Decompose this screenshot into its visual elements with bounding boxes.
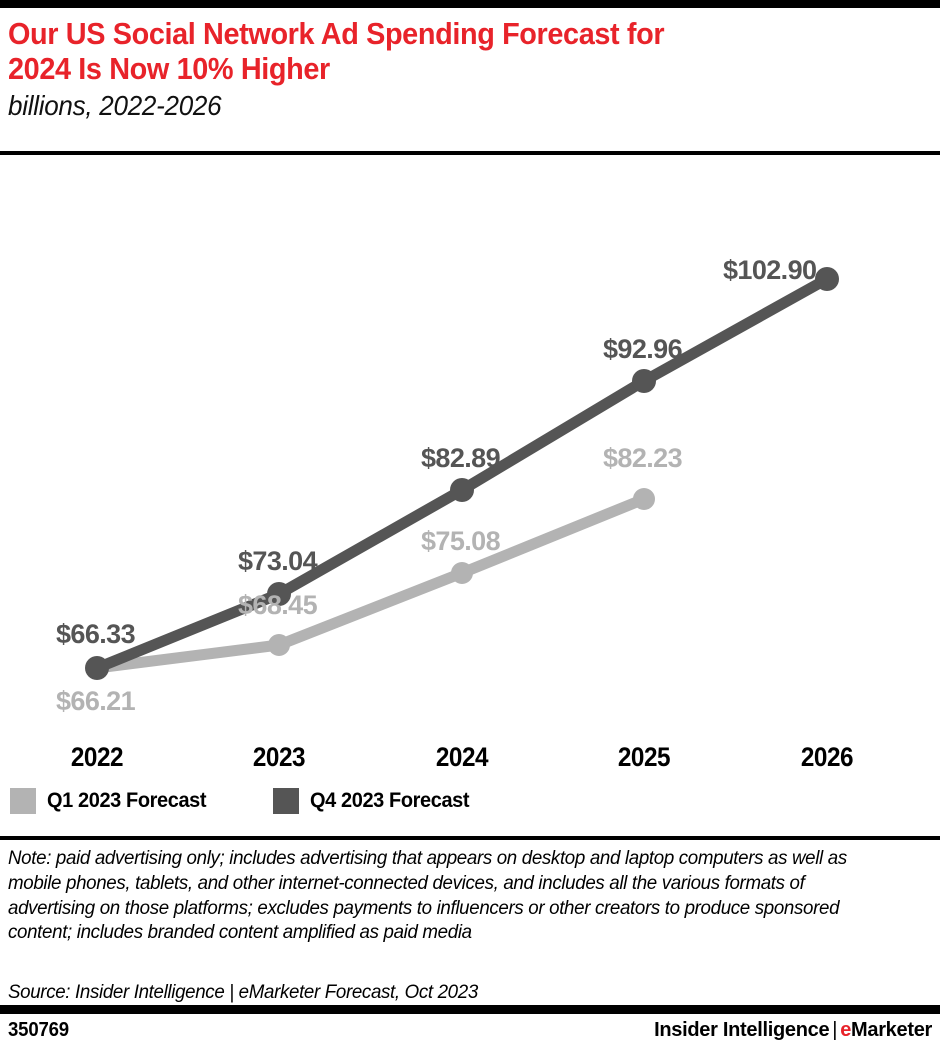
chart-id: 350769: [8, 1019, 69, 1042]
data-label-q1-2022: $66.21: [56, 686, 135, 717]
legend-swatch-icon-q4-2023: [273, 788, 299, 814]
chart-header: Our US Social Network Ad Spending Foreca…: [8, 16, 928, 122]
chart-footer: 350769 Insider Intelligence|eMarketer: [0, 1014, 940, 1048]
x-tick-2022: 2022: [71, 742, 123, 773]
x-tick-2024: 2024: [436, 742, 488, 773]
legend-swatch-icon-q1-2023: [10, 788, 36, 814]
data-label-q4-2024: $82.89: [421, 443, 500, 474]
chart-source: Source: Insider Intelligence | eMarketer…: [8, 980, 478, 1004]
data-label-q1-2024: $75.08: [421, 526, 500, 557]
chart-title: Our US Social Network Ad Spending Foreca…: [8, 16, 864, 86]
chart-page: Our US Social Network Ad Spending Foreca…: [0, 0, 940, 1048]
legend-label-q1-2023: Q1 2023 Forecast: [47, 789, 206, 813]
chart-legend: Q1 2023 Forecast Q4 2023 Forecast: [10, 788, 477, 814]
legend-item-q1-2023[interactable]: Q1 2023 Forecast: [10, 788, 215, 814]
brand-lockup: Insider Intelligence|eMarketer: [654, 1019, 932, 1042]
x-tick-2025: 2025: [618, 742, 670, 773]
chart-subtitle: billions, 2022-2026: [8, 90, 864, 122]
brand-emarketer-e: e: [840, 1019, 851, 1041]
plot-area: $66.33 $73.04 $82.89 $92.96 $102.90 $66.…: [0, 160, 940, 760]
data-label-q4-2026: $102.90: [723, 255, 816, 286]
chart-note: Note: paid advertising only; includes ad…: [8, 846, 895, 945]
legend-label-q4-2023: Q4 2023 Forecast: [310, 789, 469, 813]
brand-insider-intelligence: Insider Intelligence: [654, 1019, 829, 1041]
top-rule: [0, 0, 940, 8]
header-divider: [0, 151, 940, 155]
data-label-q1-2023: $68.45: [238, 590, 317, 621]
data-label-q4-2023: $73.04: [238, 546, 317, 577]
footer-divider: [0, 1005, 940, 1014]
x-tick-2023: 2023: [253, 742, 305, 773]
data-label-q4-2025: $92.96: [603, 334, 682, 365]
brand-separator: |: [829, 1019, 840, 1041]
legend-item-q4-2023[interactable]: Q4 2023 Forecast: [273, 788, 478, 814]
x-axis: 2022 2023 2024 2025 2026: [0, 742, 940, 778]
series-line-q1-2023: [97, 499, 644, 668]
note-divider: [0, 836, 940, 840]
data-label-q1-2025: $82.23: [603, 443, 682, 474]
data-label-q4-2022: $66.33: [56, 619, 135, 650]
brand-emarketer-rest: Marketer: [851, 1019, 932, 1041]
x-tick-2026: 2026: [801, 742, 853, 773]
